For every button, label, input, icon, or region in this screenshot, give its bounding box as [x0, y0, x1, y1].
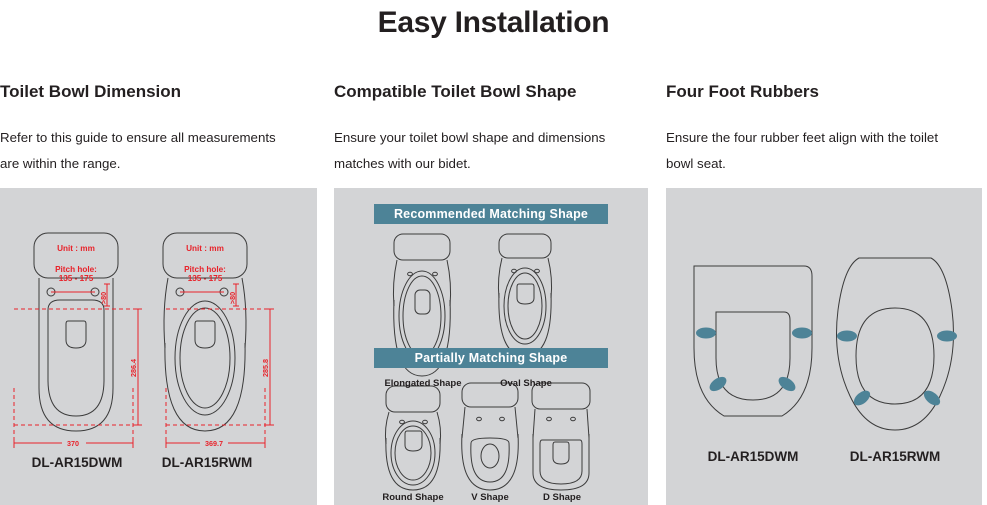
pitch-hole-left — [547, 417, 552, 420]
installation-guide-page: Easy Installation Toilet Bowl Dimension … — [0, 0, 987, 505]
shape-label-elongated: Elongated Shape — [378, 378, 468, 389]
shape-d — [532, 383, 590, 490]
bowl-outer — [165, 343, 245, 431]
shape-label-oval: Oval Shape — [484, 378, 568, 389]
bowl-rim-2 — [508, 273, 542, 339]
pitch-hole-left — [408, 272, 413, 275]
column-description: Ensure your toilet bowl shape and dimens… — [334, 125, 648, 177]
banner-partially-matching-shape: Partially Matching Shape — [374, 348, 608, 368]
pitch-hole-right — [500, 417, 505, 420]
unit-label: Unit : mm — [57, 244, 95, 253]
body-right-edge — [242, 278, 246, 348]
seat-diagram-dl-ar15rwm — [837, 258, 958, 430]
shape-round — [385, 386, 440, 490]
shape-label-v: V Shape — [453, 492, 527, 503]
description-line-1: Refer to this guide to ensure all measur… — [0, 125, 317, 151]
seat-inner — [856, 308, 934, 404]
bowl-rim-2 — [403, 276, 441, 356]
bowl-rim-1 — [471, 438, 509, 482]
bowl-flap — [66, 321, 86, 348]
depth-value: 285.8 — [261, 359, 270, 377]
description-line-2: bowl seat. — [666, 151, 982, 177]
shape-v — [462, 383, 519, 490]
depth-value: 286.4 — [129, 359, 138, 377]
seat-inner — [716, 312, 790, 400]
column-description: Ensure the four rubber feet align with t… — [666, 125, 982, 177]
bowl-flap — [517, 284, 534, 304]
body-left — [533, 409, 535, 438]
bowl-flap — [415, 290, 430, 314]
bowl-flap — [553, 442, 569, 464]
page-title: Easy Installation — [0, 6, 987, 40]
width-value: 369.7 — [205, 439, 223, 448]
foot-rubber-top-left — [696, 328, 716, 339]
foot-rubber-top-right — [937, 331, 957, 342]
diagram-panel-bowl-shapes: Recommended Matching Shape — [334, 188, 648, 505]
bowl-flap — [195, 321, 215, 348]
pitch-hole-left — [512, 269, 517, 272]
seat-diagram-dl-ar15dwm — [694, 266, 812, 416]
tank — [386, 386, 440, 412]
body-left — [393, 260, 397, 306]
description-line-2: are within the range. — [0, 151, 317, 177]
pitch-hole-right — [433, 272, 438, 275]
caption-dl-ar15rwm: DL-AR15RWM — [160, 455, 254, 470]
shape-label-d: D Shape — [525, 492, 599, 503]
pitch-label-line1: Pitch hole: — [55, 265, 97, 274]
pitch-label-line2: 135 - 175 — [59, 274, 94, 283]
tank — [394, 234, 450, 260]
caption-dl-ar15dwm: DL-AR15DWM — [706, 449, 800, 464]
body-right — [548, 258, 552, 298]
pitch-depth-label: >80 — [99, 292, 108, 304]
bowl-rim-1 — [504, 268, 546, 344]
shape-oval — [498, 234, 551, 356]
pitch-label-line2: 135 - 175 — [188, 274, 223, 283]
body-left — [498, 258, 502, 298]
bowl-flap — [481, 444, 499, 468]
body-right — [515, 407, 518, 438]
body-right — [587, 409, 589, 438]
width-value-text: 370 — [67, 439, 79, 448]
pitch-hole-left — [400, 420, 405, 423]
description-line-1: Ensure your toilet bowl shape and dimens… — [334, 125, 648, 151]
bowl-flap — [405, 431, 422, 451]
tank — [499, 234, 551, 258]
caption-dl-ar15rwm: DL-AR15RWM — [848, 449, 942, 464]
diagram-panel-foot-rubbers: DL-AR15DWM DL-AR15RWM — [666, 188, 982, 505]
toilet-diagram-dl-ar15dwm: Unit : mm Pitch hole: 135 - 175 >80 286.… — [14, 233, 142, 450]
foot-rubber-top-right — [792, 328, 812, 339]
pitch-label-line1: Pitch hole: — [184, 265, 226, 274]
column-heading: Compatible Toilet Bowl Shape — [334, 82, 576, 102]
column-description: Refer to this guide to ensure all measur… — [0, 125, 317, 177]
pitch-hole-right — [423, 420, 428, 423]
diagram-panel-bowl-dimension: Unit : mm Pitch hole: 135 - 175 >80 286.… — [0, 188, 317, 505]
bowl-inner-rim — [48, 300, 104, 416]
column-heading: Four Foot Rubbers — [666, 82, 819, 102]
pitch-hole-right — [571, 417, 576, 420]
body-left-edge — [164, 278, 168, 348]
bowl-inner-rim-2 — [180, 308, 230, 408]
unit-label: Unit : mm — [186, 244, 224, 253]
toilet-diagram-dl-ar15rwm: Unit : mm Pitch hole: 135 - 175 >80 285.… — [163, 233, 274, 450]
body-right — [447, 260, 451, 306]
bowl-rim-1 — [540, 440, 582, 484]
column-heading: Toilet Bowl Dimension — [0, 82, 181, 102]
description-line-1: Ensure the four rubber feet align with t… — [666, 125, 982, 151]
caption-dl-ar15dwm: DL-AR15DWM — [30, 455, 124, 470]
shape-label-round: Round Shape — [372, 492, 454, 503]
bowl-outer — [386, 438, 440, 490]
pitch-depth-label: >80 — [228, 292, 237, 304]
bowl-shapes-svg — [334, 188, 648, 505]
description-line-2: matches with our bidet. — [334, 151, 648, 177]
seat-outer — [694, 266, 812, 416]
foot-rubber-top-left — [837, 331, 857, 342]
pitch-hole-right — [535, 269, 540, 272]
bowl-inner-rim — [175, 301, 235, 415]
pitch-hole-left — [477, 417, 482, 420]
body-left — [462, 407, 465, 438]
bowl-outer — [39, 338, 113, 431]
bowl-rim-2 — [395, 426, 431, 480]
